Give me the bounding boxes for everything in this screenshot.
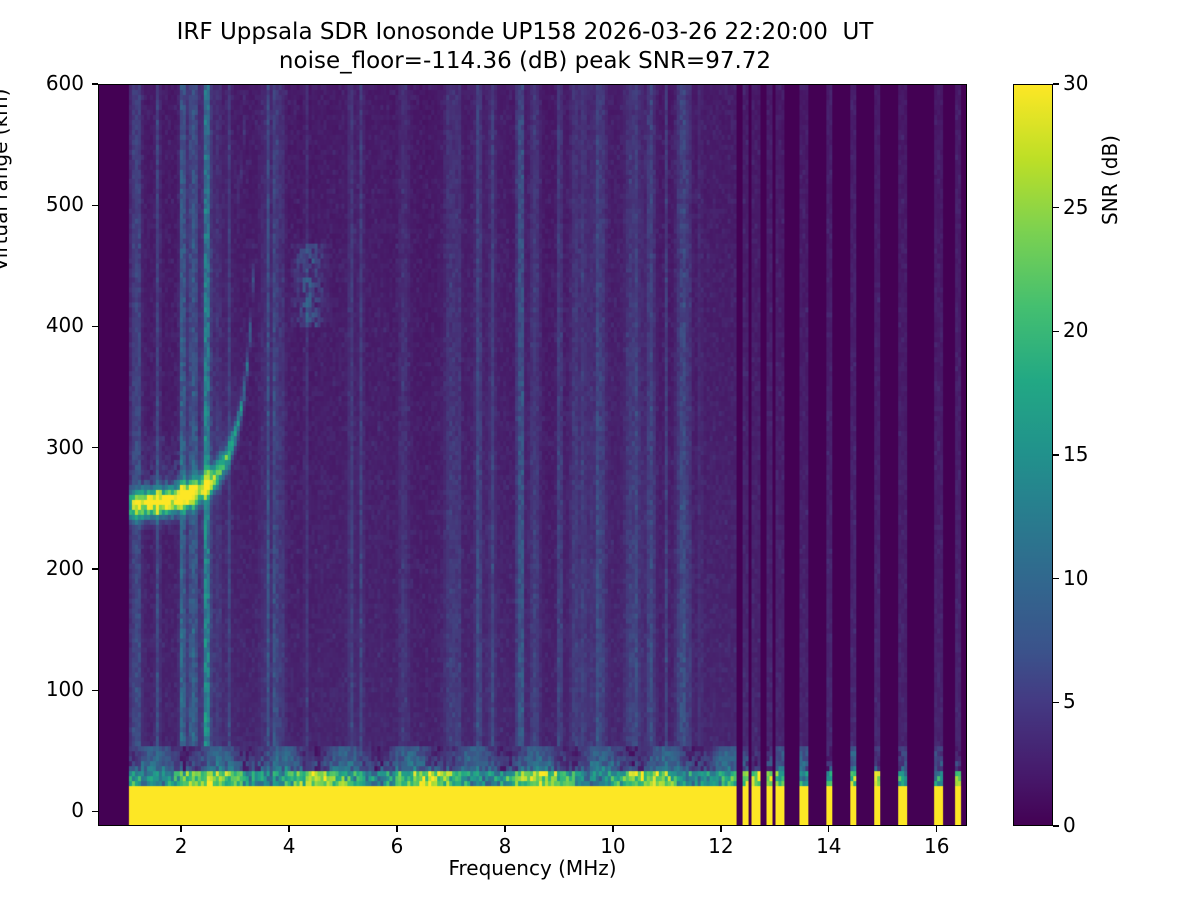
colorbar-tick-label: 25 [1063, 195, 1088, 219]
x-tick-label: 14 [799, 834, 859, 858]
title-line-2: noise_floor=-114.36 (dB) peak SNR=97.72 [0, 47, 1050, 76]
colorbar-tick-label: 30 [1063, 71, 1088, 95]
colorbar-tick-label: 0 [1063, 813, 1076, 837]
chart-title: IRF Uppsala SDR Ionosonde UP158 2026-03-… [0, 18, 1050, 76]
y-tick-mark [92, 447, 98, 448]
colorbar-tick-mark [1053, 83, 1059, 84]
x-tick-label: 16 [907, 834, 967, 858]
x-tick-mark [612, 826, 613, 832]
x-tick-label: 8 [475, 834, 535, 858]
colorbar-tick-label: 10 [1063, 566, 1088, 590]
y-tick-label: 600 [0, 71, 84, 95]
y-tick-mark [92, 326, 98, 327]
y-tick-label: 500 [0, 192, 84, 216]
y-tick-mark [92, 83, 98, 84]
y-tick-mark [92, 811, 98, 812]
colorbar-tick-mark [1053, 331, 1059, 332]
x-tick-mark [720, 826, 721, 832]
x-tick-mark [396, 826, 397, 832]
x-tick-label: 10 [583, 834, 643, 858]
y-tick-label: 200 [0, 556, 84, 580]
x-tick-label: 4 [259, 834, 319, 858]
x-tick-label: 2 [151, 834, 211, 858]
colorbar-tick-mark [1053, 578, 1059, 579]
ionogram-figure: IRF Uppsala SDR Ionosonde UP158 2026-03-… [0, 0, 1200, 900]
y-tick-label: 0 [0, 798, 84, 822]
ionogram-heatmap [99, 85, 966, 825]
colorbar-tick-mark [1053, 207, 1059, 208]
colorbar-tick-mark [1053, 702, 1059, 703]
x-tick-mark [828, 826, 829, 832]
x-tick-mark [288, 826, 289, 832]
x-tick-mark [504, 826, 505, 832]
y-tick-mark [92, 690, 98, 691]
y-axis-label: Virtual range (km) [0, 30, 12, 330]
colorbar-tick-mark [1053, 825, 1059, 826]
colorbar-label: SNR (dB) [1098, 30, 1122, 330]
colorbar-tick-label: 15 [1063, 442, 1088, 466]
x-tick-mark [180, 826, 181, 832]
y-tick-mark [92, 568, 98, 569]
colorbar-tick-label: 5 [1063, 689, 1076, 713]
colorbar [1013, 84, 1053, 826]
y-tick-label: 100 [0, 677, 84, 701]
x-tick-label: 12 [691, 834, 751, 858]
x-axis-label: Frequency (MHz) [98, 856, 967, 880]
ionogram-axes [98, 84, 967, 826]
y-tick-mark [92, 205, 98, 206]
y-tick-label: 300 [0, 435, 84, 459]
title-line-1: IRF Uppsala SDR Ionosonde UP158 2026-03-… [0, 18, 1050, 47]
x-tick-mark [936, 826, 937, 832]
colorbar-tick-label: 20 [1063, 318, 1088, 342]
y-tick-label: 400 [0, 313, 84, 337]
colorbar-tick-mark [1053, 454, 1059, 455]
x-tick-label: 6 [367, 834, 427, 858]
